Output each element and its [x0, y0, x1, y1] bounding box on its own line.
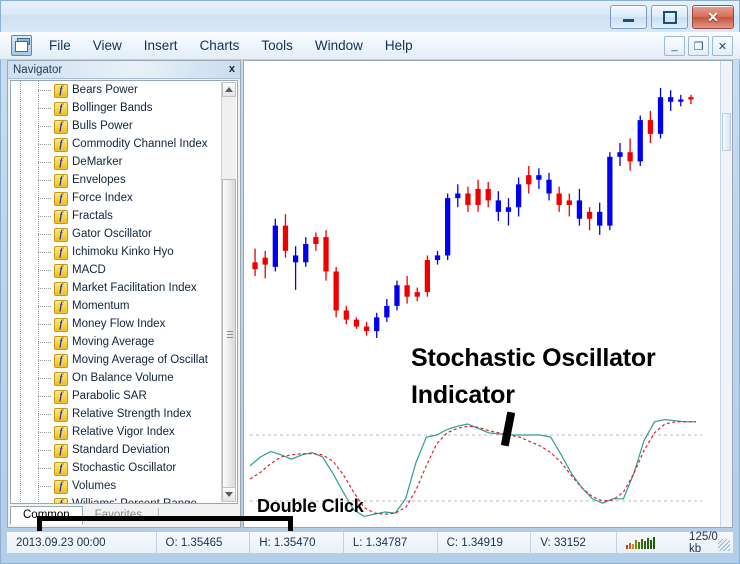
- tree-elbow: [38, 396, 52, 397]
- tree-elbow: [38, 486, 52, 487]
- tree-elbow: [38, 126, 52, 127]
- tree-elbow: [38, 432, 52, 433]
- signal-bar: [629, 543, 631, 549]
- tree-elbow: [38, 468, 52, 469]
- status-volume: V: 33152: [531, 532, 617, 553]
- f-indicator-icon: f: [54, 300, 68, 314]
- tree-elbow: [38, 288, 52, 289]
- navigator-item-envelopes[interactable]: fEnvelopes: [11, 171, 224, 189]
- navigator-tree-scroll: fBears PowerfBollinger BandsfBulls Power…: [11, 81, 224, 503]
- tree-elbow: [38, 378, 52, 379]
- navigator-item-label: Market Facilitation Index: [72, 282, 197, 294]
- tree-elbow: [38, 360, 52, 361]
- menu-help[interactable]: Help: [376, 35, 422, 56]
- navigator-item-label: Parabolic SAR: [72, 390, 147, 402]
- scroll-up-button[interactable]: [222, 82, 236, 97]
- f-indicator-icon: f: [54, 138, 68, 152]
- menu-tools[interactable]: Tools: [252, 35, 302, 56]
- tree-elbow: [38, 270, 52, 271]
- navigator-item-relative-vigor-index[interactable]: fRelative Vigor Index: [11, 423, 224, 441]
- annotation-title-line1: Stochastic Oscillator: [411, 344, 656, 373]
- tree-elbow: [38, 306, 52, 307]
- close-icon: ✕: [707, 10, 719, 24]
- f-indicator-icon: f: [54, 480, 68, 494]
- f-indicator-icon: f: [54, 228, 68, 242]
- signal-bar: [638, 542, 640, 549]
- menu-bar: File View Insert Charts Tools Window Hel…: [0, 32, 740, 60]
- scroll-down-button[interactable]: [222, 487, 236, 502]
- f-indicator-icon: f: [54, 354, 68, 368]
- f-indicator-icon: f: [54, 102, 68, 116]
- maximize-icon: [663, 11, 677, 24]
- tree-elbow: [38, 234, 52, 235]
- navigator-item-bulls-power[interactable]: fBulls Power: [11, 117, 224, 135]
- navigator-item-label: Fractals: [72, 210, 113, 222]
- navigator-item-gator-oscillator[interactable]: fGator Oscillator: [11, 225, 224, 243]
- navigator-tree[interactable]: fBears PowerfBollinger BandsfBulls Power…: [10, 80, 238, 504]
- navigator-item-label: Stochastic Oscillator: [72, 462, 176, 474]
- status-datetime: 2013.09.23 00:00: [7, 532, 157, 553]
- tree-elbow: [38, 216, 52, 217]
- resize-grip-icon[interactable]: [718, 539, 730, 551]
- signal-bar: [650, 540, 652, 549]
- navigator-item-bears-power[interactable]: fBears Power: [11, 81, 224, 99]
- tree-elbow: [38, 324, 52, 325]
- menu-file[interactable]: File: [40, 35, 80, 56]
- navigator-item-label: Ichimoku Kinko Hyo: [72, 246, 174, 258]
- navigator-item-moving-average[interactable]: fMoving Average: [11, 333, 224, 351]
- f-indicator-icon: f: [54, 174, 68, 188]
- navigator-item-label: Bulls Power: [72, 120, 133, 132]
- mdi-close-button[interactable]: ✕: [712, 36, 733, 56]
- status-open: O: 1.35465: [157, 532, 251, 553]
- navigator-item-relative-strength-index[interactable]: fRelative Strength Index: [11, 405, 224, 423]
- navigator-item-label: Relative Strength Index: [72, 408, 192, 420]
- annotation-double-click: Double Click: [257, 496, 364, 517]
- f-indicator-icon: f: [54, 192, 68, 206]
- tree-elbow: [38, 180, 52, 181]
- navigator-item-label: Moving Average of Oscillat: [72, 354, 208, 366]
- f-indicator-icon: f: [54, 390, 68, 404]
- f-indicator-icon: f: [54, 282, 68, 296]
- navigator-item-label: Standard Deviation: [72, 444, 170, 456]
- f-indicator-icon: f: [54, 336, 68, 350]
- signal-bar: [632, 544, 634, 549]
- annotation-title-line2: Indicator: [411, 381, 515, 410]
- navigator-item-label: DeMarker: [72, 156, 122, 168]
- window-controls: ✕: [610, 5, 734, 29]
- navigator-item-moving-average-of-oscillat[interactable]: fMoving Average of Oscillat: [11, 351, 224, 369]
- navigator-item-market-facilitation-index[interactable]: fMarket Facilitation Index: [11, 279, 224, 297]
- tree-elbow: [38, 450, 52, 451]
- menu-view[interactable]: View: [84, 35, 131, 56]
- navigator-item-momentum[interactable]: fMomentum: [11, 297, 224, 315]
- minimize-button[interactable]: [610, 5, 647, 29]
- tree-elbow: [38, 108, 52, 109]
- navigator-item-bollinger-bands[interactable]: fBollinger Bands: [11, 99, 224, 117]
- navigator-item-label: Gator Oscillator: [72, 228, 152, 240]
- navigator-item-money-flow-index[interactable]: fMoney Flow Index: [11, 315, 224, 333]
- status-high: H: 1.35470: [250, 532, 344, 553]
- menu-window[interactable]: Window: [306, 35, 372, 56]
- f-indicator-icon: f: [54, 372, 68, 386]
- metatrader-window: ✕ File View Insert Charts Tools Window H…: [0, 0, 740, 564]
- f-indicator-icon: f: [54, 408, 68, 422]
- signal-bars-icon: [617, 537, 655, 549]
- navigator-item-on-balance-volume[interactable]: fOn Balance Volume: [11, 369, 224, 387]
- chart-window[interactable]: [243, 60, 733, 528]
- navigator-item-label: Money Flow Index: [72, 318, 165, 330]
- signal-bar: [635, 540, 637, 549]
- status-close: C: 1.34919: [438, 532, 532, 553]
- navigator-item-label: Williams' Percent Range: [72, 498, 197, 503]
- navigator-close-icon[interactable]: x: [229, 63, 235, 75]
- tree-elbow: [38, 414, 52, 415]
- f-indicator-icon: f: [54, 462, 68, 476]
- navigator-item-label: Commodity Channel Index: [72, 138, 208, 150]
- f-indicator-icon: f: [54, 246, 68, 260]
- signal-bar: [626, 545, 628, 549]
- tree-elbow: [38, 252, 52, 253]
- signal-bar: [644, 541, 646, 549]
- signal-bar: [641, 539, 643, 549]
- chevron-up-icon: [225, 87, 233, 92]
- navigator-item-macd[interactable]: fMACD: [11, 261, 224, 279]
- mdi-minimize-button[interactable]: _: [664, 36, 685, 56]
- mdi-window-controls: _ ❐ ✕: [664, 36, 733, 56]
- chart-scrollbar-thumb[interactable]: [722, 113, 731, 151]
- navigator-item-label: Envelopes: [72, 174, 126, 186]
- f-indicator-icon: f: [54, 318, 68, 332]
- navigator-item-label: On Balance Volume: [72, 372, 174, 384]
- minimize-icon: [623, 19, 634, 22]
- tree-elbow: [38, 162, 52, 163]
- mdi-restore-button[interactable]: ❐: [688, 36, 709, 56]
- navigator-item-parabolic-sar[interactable]: fParabolic SAR: [11, 387, 224, 405]
- status-bar: 2013.09.23 00:00 O: 1.35465 H: 1.35470 L…: [7, 531, 733, 553]
- f-indicator-icon: f: [54, 156, 68, 170]
- navigator-panel: Navigator x fBears PowerfBollinger Bands…: [7, 60, 241, 528]
- f-indicator-icon: f: [54, 120, 68, 134]
- f-indicator-icon: f: [54, 426, 68, 440]
- navigator-item-label: Moving Average: [72, 336, 154, 348]
- price-chart: [244, 61, 722, 527]
- chart-scrollbar[interactable]: [720, 61, 732, 527]
- workspace: Navigator x fBears PowerfBollinger Bands…: [7, 60, 733, 528]
- navigator-item-stochastic-oscillator[interactable]: fStochastic Oscillator: [11, 459, 224, 477]
- navigator-item-label: Force Index: [72, 192, 133, 204]
- navigator-item-volumes[interactable]: fVolumes: [11, 477, 224, 495]
- close-button[interactable]: ✕: [692, 5, 734, 29]
- navigator-item-force-index[interactable]: fForce Index: [11, 189, 224, 207]
- navigator-item-ichimoku-kinko-hyo[interactable]: fIchimoku Kinko Hyo: [11, 243, 224, 261]
- tree-elbow: [38, 90, 52, 91]
- menu-insert[interactable]: Insert: [135, 35, 187, 56]
- navigator-item-label: Volumes: [72, 480, 116, 492]
- tree-elbow: [38, 144, 52, 145]
- scrollbar-grip-icon: [227, 331, 233, 338]
- navigator-item-label: Momentum: [72, 300, 130, 312]
- navigator-item-label: Bollinger Bands: [72, 102, 153, 114]
- navigator-item-label: MACD: [72, 264, 106, 276]
- f-indicator-icon: f: [54, 444, 68, 458]
- navigator-item-commodity-channel-index[interactable]: fCommodity Channel Index: [11, 135, 224, 153]
- menu-charts[interactable]: Charts: [191, 35, 249, 56]
- f-indicator-icon: f: [54, 84, 68, 98]
- chevron-down-icon: [225, 492, 233, 497]
- title-bar: ✕: [0, 0, 740, 32]
- f-indicator-icon: f: [54, 498, 68, 503]
- f-indicator-icon: f: [54, 210, 68, 224]
- navigator-item-label: Bears Power: [72, 84, 138, 96]
- navigator-item-label: Relative Vigor Index: [72, 426, 175, 438]
- tree-elbow: [38, 198, 52, 199]
- navigator-item-standard-deviation[interactable]: fStandard Deviation: [11, 441, 224, 459]
- tree-elbow: [38, 342, 52, 343]
- f-indicator-icon: f: [54, 264, 68, 278]
- navigator-header: Navigator x: [8, 61, 240, 79]
- navigator-title: Navigator: [13, 64, 62, 76]
- signal-bar: [647, 538, 649, 549]
- scrollbar-thumb[interactable]: [222, 179, 236, 489]
- status-low: L: 1.34787: [344, 532, 438, 553]
- navigator-item-fractals[interactable]: fFractals: [11, 207, 224, 225]
- navigator-item-williams-percent-range[interactable]: fWilliams' Percent Range: [11, 495, 224, 503]
- navigator-item-demarker[interactable]: fDeMarker: [11, 153, 224, 171]
- maximize-button[interactable]: [651, 5, 688, 29]
- navigator-scrollbar[interactable]: [221, 82, 236, 502]
- metatrader-icon: [11, 35, 32, 56]
